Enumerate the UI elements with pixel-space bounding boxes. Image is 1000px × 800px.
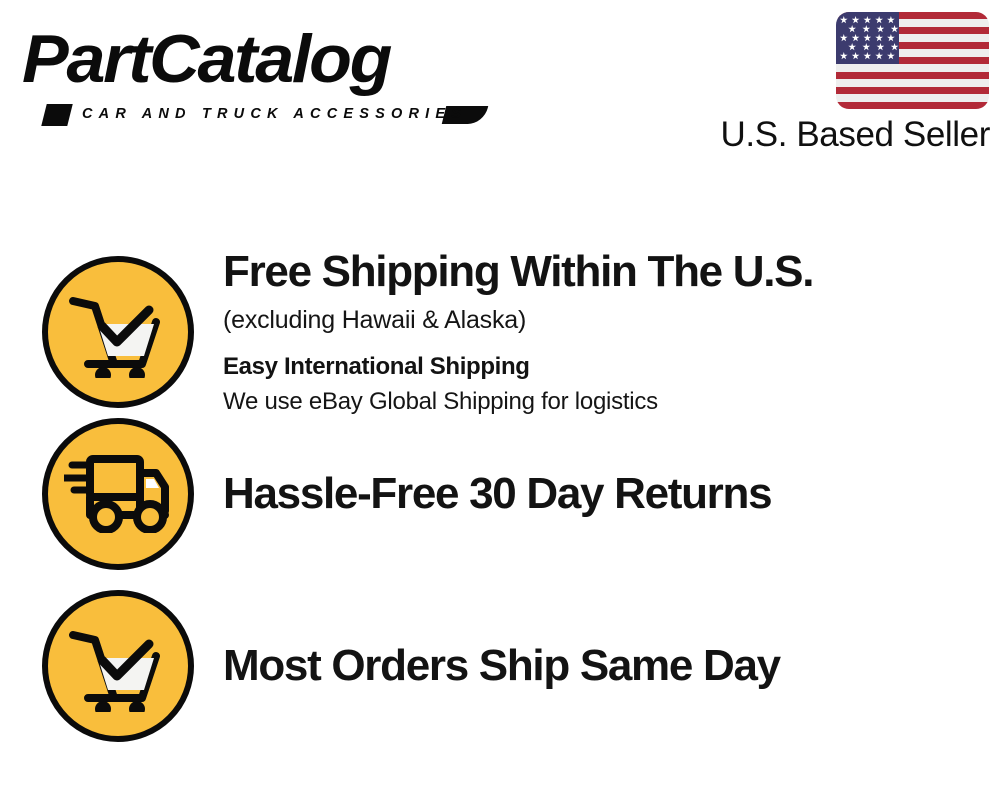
flag-star — [887, 52, 895, 60]
feature-title: Hassle-Free 30 Day Returns — [223, 468, 1000, 520]
flag-stripe — [836, 102, 989, 109]
feature-title: Free Shipping Within The U.S. — [223, 246, 1000, 298]
delivery-truck-icon — [42, 418, 194, 570]
brand-tagline: CAR AND TRUCK ACCESSORIES — [82, 106, 467, 122]
us-flag-graphic — [836, 12, 989, 109]
flag-stripe — [836, 72, 989, 79]
flag-star — [876, 25, 884, 33]
us-flag-icon — [836, 12, 989, 109]
flag-star — [840, 16, 848, 24]
feature-text-block: Free Shipping Within The U.S. (excluding… — [223, 246, 1000, 418]
flag-star — [887, 16, 895, 24]
feature-title: Most Orders Ship Same Day — [223, 640, 1000, 692]
feature-text-block: Most Orders Ship Same Day — [223, 640, 1000, 692]
feature-text-block: Hassle-Free 30 Day Returns — [223, 468, 1000, 520]
flag-star — [852, 34, 860, 42]
page-header: PartCatalog CAR AND TRUCK ACCESSORIES — [0, 0, 1000, 175]
flag-star — [862, 43, 870, 51]
flag-star — [875, 34, 883, 42]
page-root: { "brand": { "wordmark": "PartCatalog", … — [0, 0, 1000, 800]
flag-star — [876, 43, 884, 51]
feature-row: Hassle-Free 30 Day Returns — [0, 418, 1000, 570]
feature-secondary-subtitle: We use eBay Global Shipping for logistic… — [223, 385, 1000, 418]
flag-star — [862, 25, 870, 33]
brand-logo: PartCatalog CAR AND TRUCK ACCESSORIES — [22, 20, 492, 120]
flag-star — [887, 34, 895, 42]
feature-row: Most Orders Ship Same Day — [0, 590, 1000, 742]
shopping-cart-check-icon — [42, 256, 194, 408]
feature-row: Free Shipping Within The U.S. (excluding… — [0, 246, 1000, 418]
flag-star — [840, 34, 848, 42]
flag-star — [848, 43, 856, 51]
flag-canton — [836, 12, 899, 64]
flag-star — [848, 25, 856, 33]
feature-secondary-title: Easy International Shipping — [223, 350, 1000, 383]
flag-star — [891, 43, 899, 51]
logo-swash-left-decoration — [41, 104, 72, 126]
flag-stripe — [836, 87, 989, 94]
flag-star — [840, 52, 848, 60]
us-based-seller-label: U.S. Based Seller — [718, 114, 990, 156]
flag-star — [891, 25, 899, 33]
shopping-cart-check-icon — [42, 590, 194, 742]
brand-wordmark: PartCatalog — [22, 20, 390, 98]
flag-star — [852, 16, 860, 24]
flag-star — [863, 34, 871, 42]
flag-star — [863, 52, 871, 60]
flag-star — [852, 52, 860, 60]
flag-star — [863, 16, 871, 24]
flag-star — [875, 16, 883, 24]
feature-subtitle: (excluding Hawaii & Alaska) — [223, 302, 1000, 338]
flag-star — [875, 52, 883, 60]
